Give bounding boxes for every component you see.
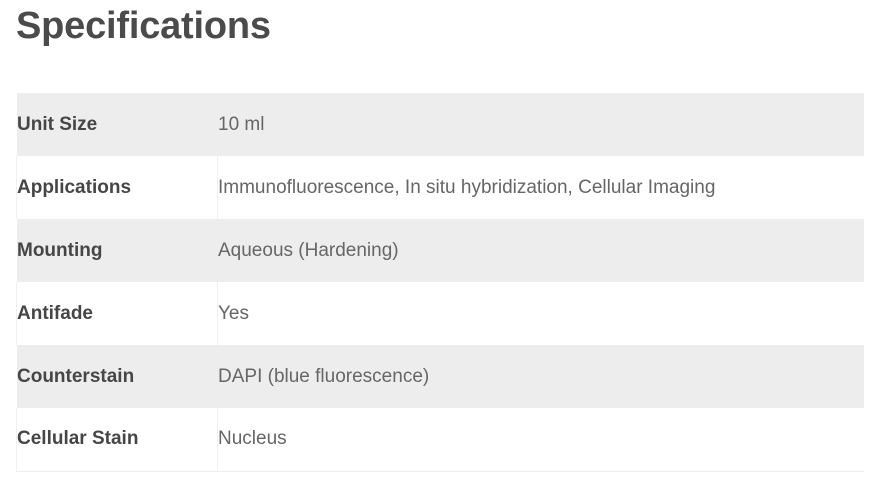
spec-label-applications: Applications xyxy=(17,156,218,219)
spec-label-mounting: Mounting xyxy=(17,219,218,282)
specifications-table-container: Unit Size 10 ml Applications Immunofluor… xyxy=(16,93,864,472)
table-row: Cellular Stain Nucleus xyxy=(17,408,865,471)
table-row: Mounting Aqueous (Hardening) xyxy=(17,219,865,282)
spec-value-cellular-stain: Nucleus xyxy=(218,408,865,471)
spec-value-applications: Immunofluorescence, In situ hybridizatio… xyxy=(218,156,865,219)
spec-label-antifade: Antifade xyxy=(17,282,218,345)
spec-value-counterstain: DAPI (blue fluorescence) xyxy=(218,345,865,408)
spec-value-mounting: Aqueous (Hardening) xyxy=(218,219,865,282)
spec-label-cellular-stain: Cellular Stain xyxy=(17,408,218,471)
spec-label-unit-size: Unit Size xyxy=(17,93,218,156)
spec-value-antifade: Yes xyxy=(218,282,865,345)
page-title: Specifications xyxy=(16,2,271,50)
table-row: Unit Size 10 ml xyxy=(17,93,865,156)
spec-label-counterstain: Counterstain xyxy=(17,345,218,408)
table-row: Counterstain DAPI (blue fluorescence) xyxy=(17,345,865,408)
table-row: Antifade Yes xyxy=(17,282,865,345)
spec-value-unit-size: 10 ml xyxy=(218,93,865,156)
specifications-page: Specifications Unit Size 10 ml Applicati… xyxy=(0,0,880,491)
table-row: Applications Immunofluorescence, In situ… xyxy=(17,156,865,219)
specifications-table-body: Unit Size 10 ml Applications Immunofluor… xyxy=(17,93,865,471)
specifications-table: Unit Size 10 ml Applications Immunofluor… xyxy=(16,93,864,472)
